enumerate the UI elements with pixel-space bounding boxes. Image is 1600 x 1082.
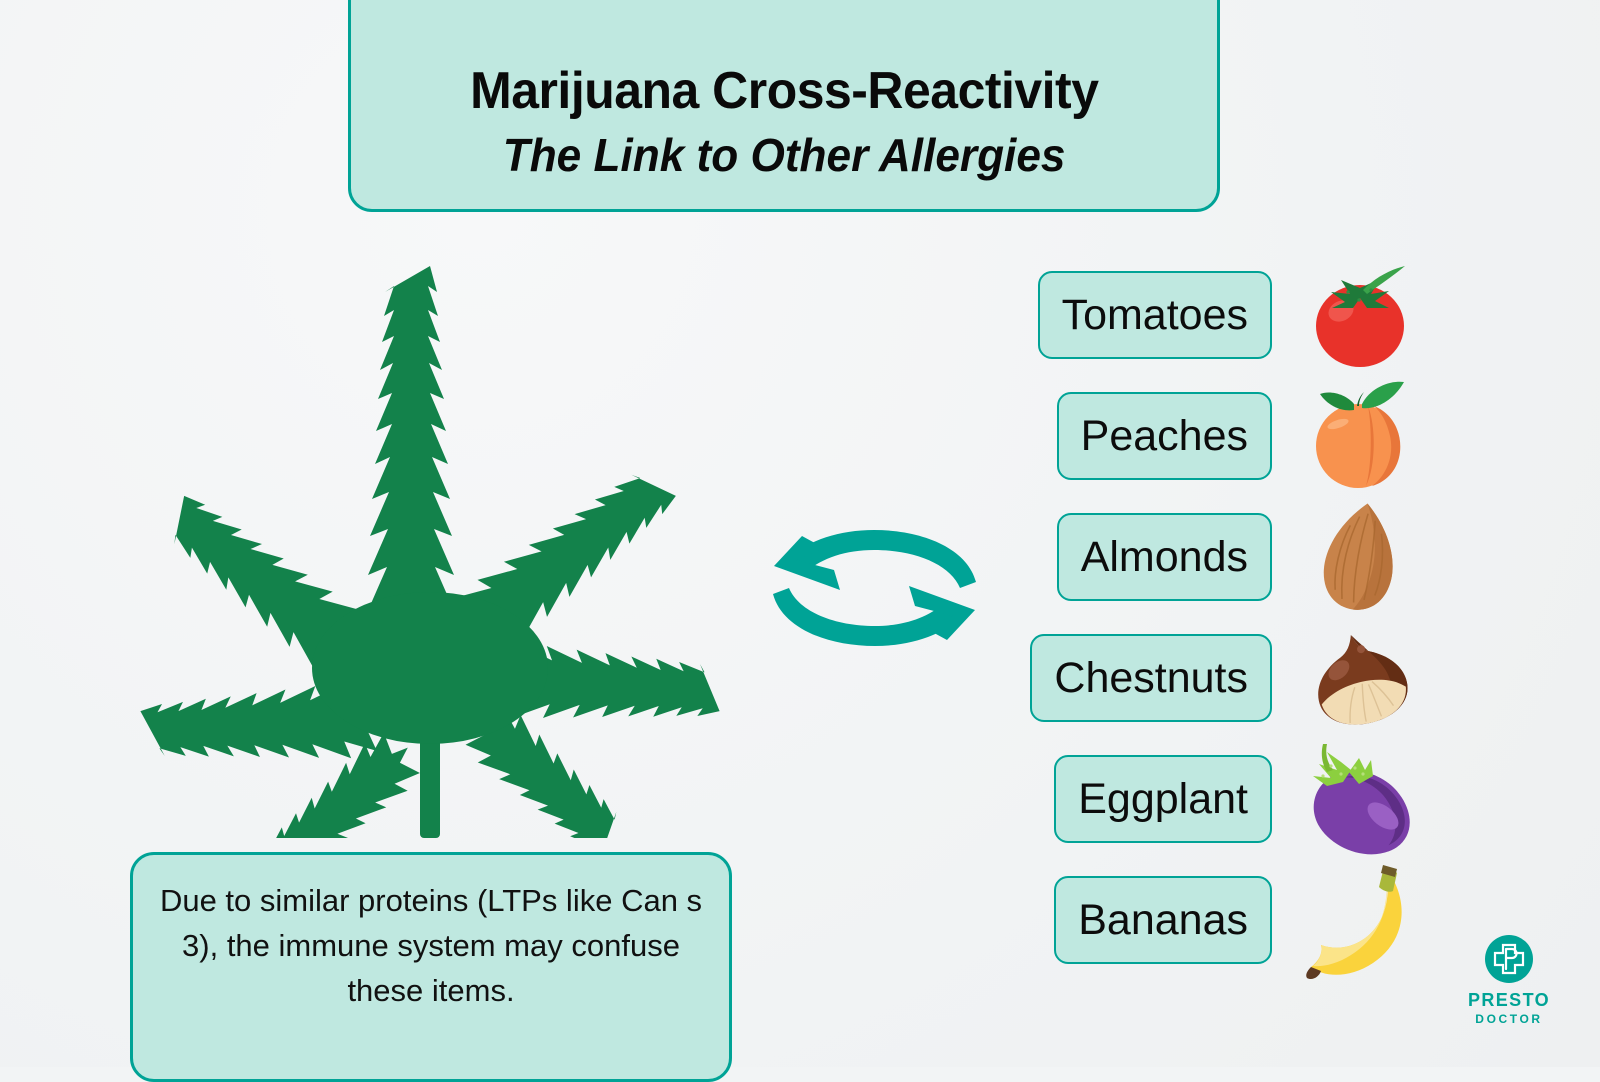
tomato-icon [1290, 253, 1430, 378]
eggplant-icon [1290, 737, 1430, 862]
allergen-label: Almonds [1081, 536, 1248, 579]
cross-reactive-allergen-list: Tomatoes Peaches [980, 264, 1440, 994]
allergen-label: Tomatoes [1062, 294, 1248, 337]
list-item[interactable]: Bananas [980, 869, 1440, 971]
allergen-pill-chestnuts[interactable]: Chestnuts [1030, 634, 1272, 722]
page-title: Marijuana Cross-Reactivity [470, 64, 1098, 119]
logo-name: PRESTO [1468, 991, 1550, 1009]
list-item[interactable]: Chestnuts [980, 627, 1440, 729]
allergen-pill-tomatoes[interactable]: Tomatoes [1038, 271, 1272, 359]
list-item[interactable]: Peaches [980, 385, 1440, 487]
allergen-pill-almonds[interactable]: Almonds [1057, 513, 1272, 601]
list-item[interactable]: Tomatoes [980, 264, 1440, 366]
logo-subtitle: DOCTOR [1475, 1013, 1542, 1025]
explanation-callout: Due to similar proteins (LTPs like Can s… [130, 852, 732, 1082]
allergen-label: Peaches [1081, 415, 1248, 458]
title-banner: Marijuana Cross-Reactivity The Link to O… [348, 0, 1220, 212]
infographic-canvas: Marijuana Cross-Reactivity The Link to O… [0, 0, 1600, 1067]
page-subtitle: The Link to Other Allergies [503, 131, 1066, 179]
presto-doctor-cross-icon [1485, 935, 1533, 983]
allergen-label: Chestnuts [1054, 657, 1248, 700]
explanation-text: Due to similar proteins (LTPs like Can s… [159, 879, 703, 1014]
peach-icon [1290, 374, 1430, 499]
allergen-pill-eggplant[interactable]: Eggplant [1054, 755, 1272, 843]
banana-icon [1290, 858, 1430, 983]
allergen-pill-peaches[interactable]: Peaches [1057, 392, 1272, 480]
allergen-pill-bananas[interactable]: Bananas [1054, 876, 1272, 964]
almond-icon [1290, 495, 1430, 620]
list-item[interactable]: Almonds [980, 506, 1440, 608]
list-item[interactable]: Eggplant [980, 748, 1440, 850]
two-way-exchange-arrows-icon [762, 508, 987, 668]
allergen-label: Eggplant [1078, 778, 1248, 821]
cannabis-leaf-icon [118, 258, 743, 838]
allergen-label: Bananas [1078, 899, 1248, 942]
chestnut-icon [1290, 616, 1430, 741]
presto-doctor-logo[interactable]: PRESTO DOCTOR [1455, 935, 1563, 1045]
